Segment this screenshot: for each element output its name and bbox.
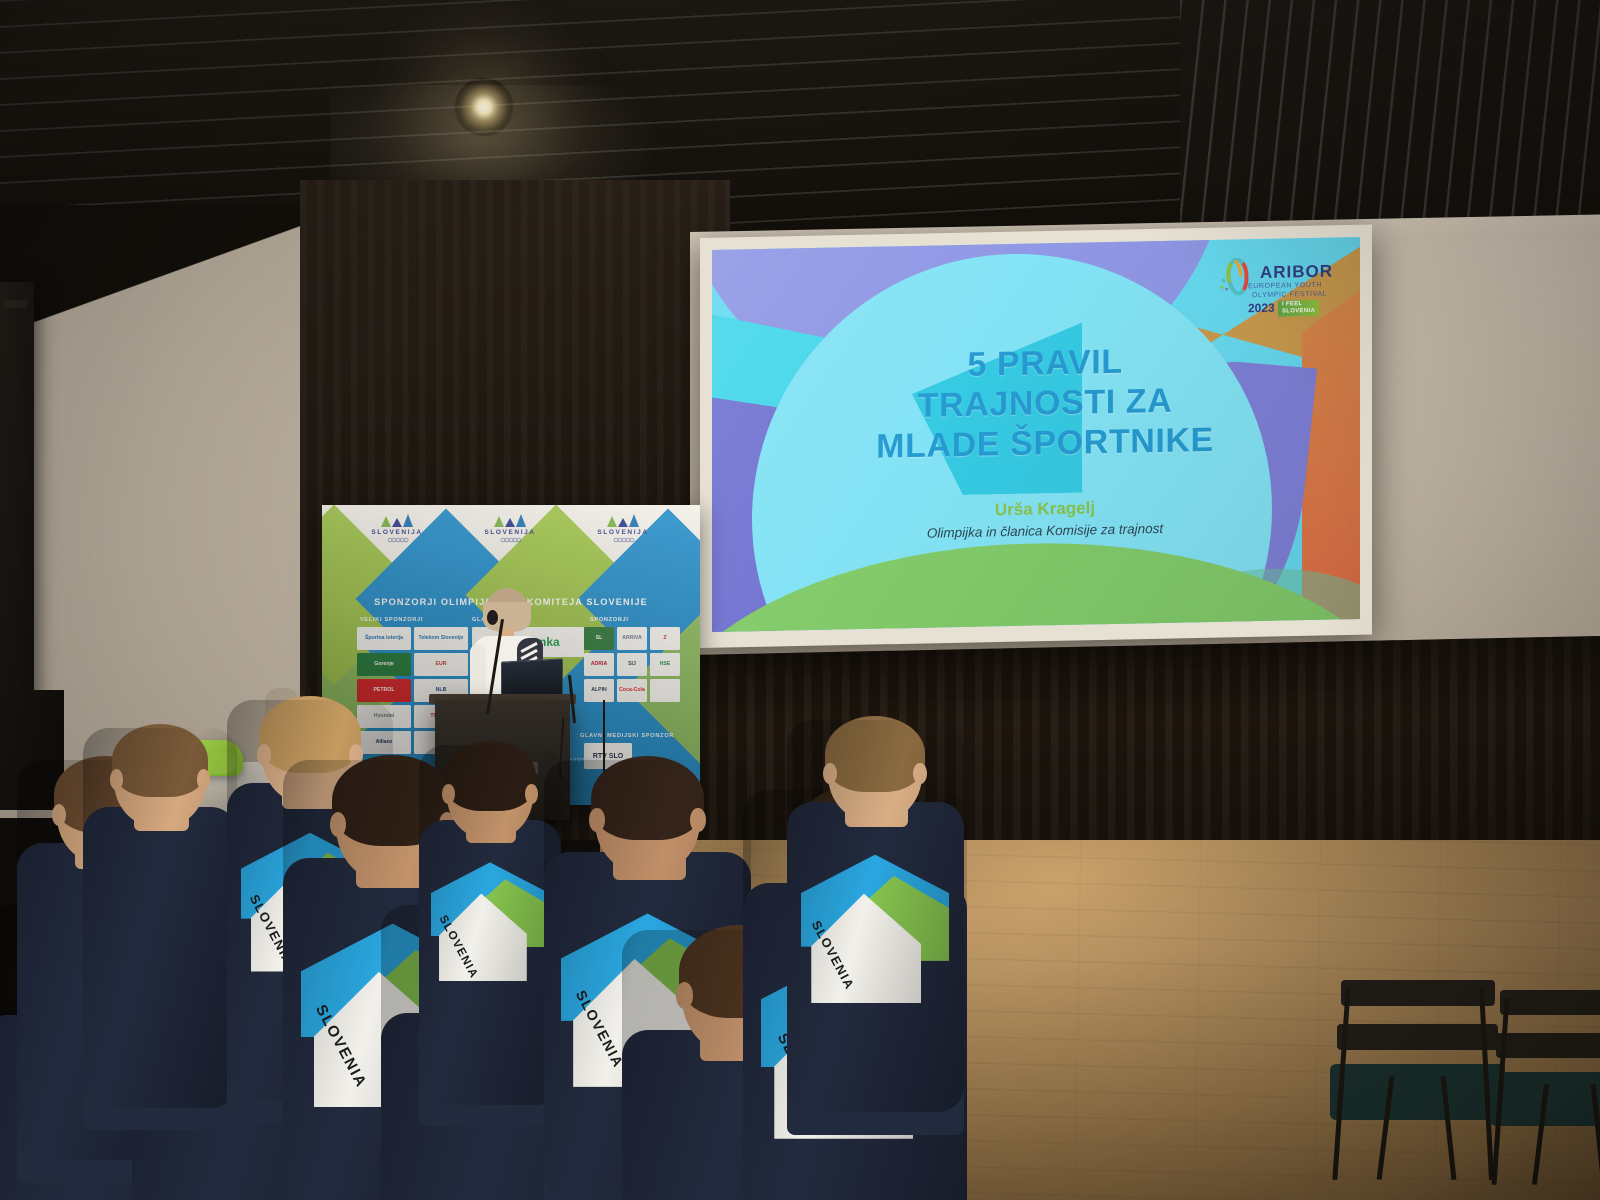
- audience-torso: [83, 807, 236, 1130]
- chair-back: [1496, 1033, 1600, 1058]
- eyof-year: 2023: [1248, 301, 1275, 316]
- audience-ear: [442, 784, 455, 804]
- eyof-sub-line1: EUROPEAN YOUTH: [1248, 282, 1322, 290]
- audience-ear: [690, 808, 705, 832]
- maribor-eyof-logo: ARIBOR EUROPEAN YOUTH OLYMPIC FESTIVAL 2…: [1212, 253, 1352, 322]
- projection-screen: 5 PRAVIL TRAJNOSTI ZA MLADE ŠPORTNIKE Ur…: [712, 237, 1360, 632]
- ceiling-spotlight: [455, 78, 513, 136]
- chair-back: [1337, 1024, 1498, 1050]
- audience-member: [95, 728, 225, 1165]
- audience-ear: [110, 769, 123, 790]
- audience-ear: [589, 808, 604, 832]
- audience-member: SLOVENIA: [800, 720, 950, 1171]
- photo-scene: 5 PRAVIL TRAJNOSTI ZA MLADE ŠPORTNIKE Ur…: [0, 0, 1600, 1200]
- audience-hair: [444, 741, 536, 810]
- badge-line2: SLOVENIA: [1282, 308, 1315, 316]
- folding-chair: [1330, 980, 1505, 1180]
- audience-member: SLOVENIA: [430, 745, 550, 1159]
- audience-ear: [913, 763, 927, 785]
- folding-chair: [1490, 990, 1600, 1185]
- audience-ear: [823, 763, 837, 785]
- audience-ear: [257, 744, 271, 766]
- audience-ear: [197, 769, 210, 790]
- audience-hair: [825, 716, 925, 791]
- microphone-head: [487, 610, 498, 625]
- chair-back: [1500, 990, 1600, 1015]
- i-feel-slovenia-badge: I FEEL SLOVENIA: [1278, 300, 1319, 317]
- speaker-grille: [3, 300, 27, 308]
- audience-ear: [52, 804, 66, 826]
- eyof-wordmark: ARIBOR: [1260, 262, 1333, 283]
- chair-back: [1341, 980, 1495, 1006]
- audience-hair: [591, 756, 703, 841]
- audience-ear: [525, 784, 538, 804]
- eyof-sub-line2: OLYMPIC FESTIVAL: [1252, 291, 1327, 300]
- audience-hair: [112, 724, 209, 797]
- chair-seat: [1330, 1064, 1505, 1120]
- audience-ear: [676, 982, 693, 1008]
- slide-title: 5 PRAVIL TRAJNOSTI ZA MLADE ŠPORTNIKE: [810, 339, 1280, 469]
